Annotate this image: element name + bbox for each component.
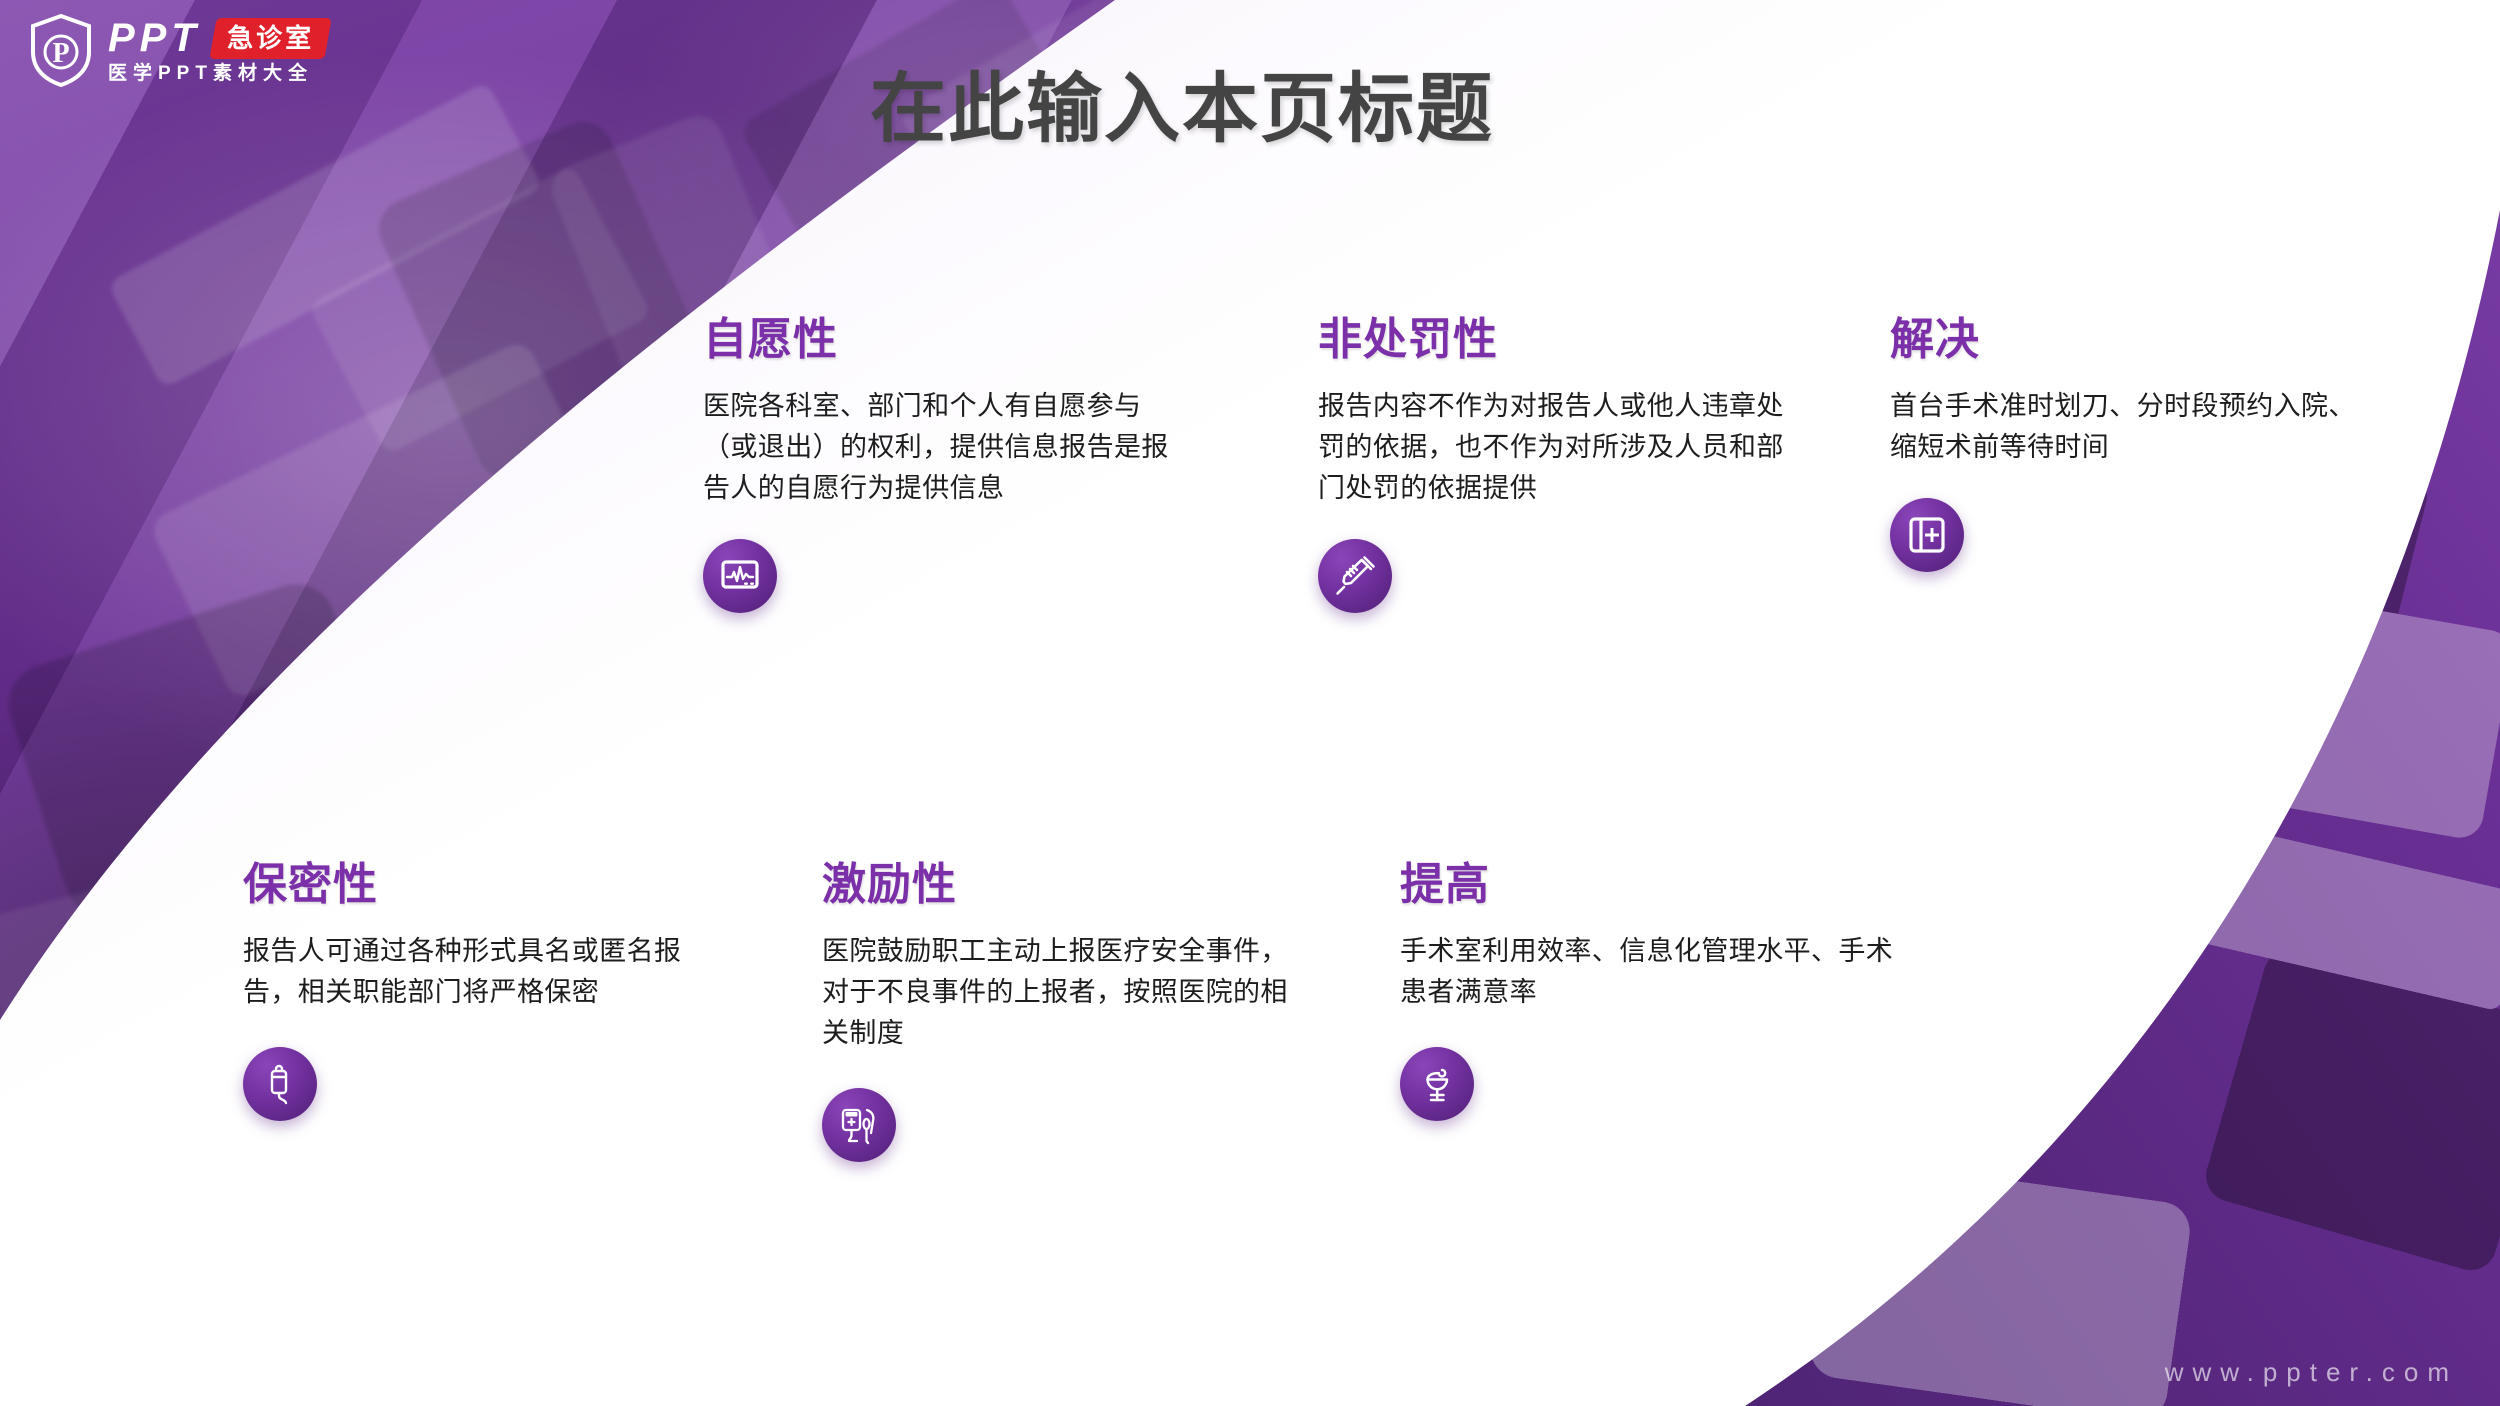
block-description: 报告内容不作为对报告人或他人违章处罚的依据，也不作为对所涉及人员和部门处罚的依据… <box>1318 386 1788 509</box>
feature-block-non-punitive: 非处罚性 报告内容不作为对报告人或他人违章处罚的依据，也不作为对所涉及人员和部门… <box>1318 318 1788 613</box>
shield-letter: P <box>52 38 69 69</box>
syringe-icon[interactable] <box>1318 539 1392 613</box>
feature-block-voluntary: 自愿性 医院各科室、部门和个人有自愿参与（或退出）的权利，提供信息报告是报告人的… <box>703 318 1173 613</box>
feature-block-resolve: 解决 首台手术准时划刀、分时段预约入院、缩短术前等待时间 <box>1890 318 2380 572</box>
block-title: 提高 <box>1400 863 1900 907</box>
logo-primary-row: PPT 急诊室 <box>108 18 328 59</box>
logo-name: PPT <box>108 18 201 58</box>
block-description: 首台手术准时划刀、分时段预约入院、缩短术前等待时间 <box>1890 386 2380 468</box>
block-title: 激励性 <box>822 863 1292 907</box>
block-description: 手术室利用效率、信息化管理水平、手术患者满意率 <box>1400 931 1900 1013</box>
feature-block-confidentiality: 保密性 报告人可通过各种形式具名或匿名报告，相关职能部门将严格保密 <box>243 863 693 1121</box>
feature-block-improve: 提高 手术室利用效率、信息化管理水平、手术患者满意率 <box>1400 863 1900 1121</box>
brand-logo[interactable]: P PPT 急诊室 医学PPT素材大全 <box>28 12 328 88</box>
blood-bag-icon[interactable] <box>822 1088 896 1162</box>
shield-icon: P <box>28 12 94 88</box>
medical-book-icon[interactable] <box>1890 498 1964 572</box>
logo-badge: 急诊室 <box>209 18 331 59</box>
logo-badge-label: 急诊室 <box>227 25 314 51</box>
logo-tagline: 医学PPT素材大全 <box>108 64 328 83</box>
white-curve-overlay <box>0 0 2500 1406</box>
feature-block-incentive: 激励性 医院鼓励职工主动上报医疗安全事件，对于不良事件的上报者，按照医院的相关制… <box>822 863 1292 1162</box>
slide-canvas: P PPT 急诊室 医学PPT素材大全 在此输入本页标题 自愿性 医院各科室、部… <box>0 0 2500 1406</box>
iv-bag-icon[interactable] <box>243 1047 317 1121</box>
bowl-of-hygieia-icon[interactable] <box>1400 1047 1474 1121</box>
block-title: 自愿性 <box>703 318 1173 362</box>
block-description: 医院各科室、部门和个人有自愿参与（或退出）的权利，提供信息报告是报告人的自愿行为… <box>703 386 1173 509</box>
site-watermark: www.ppter.com <box>2165 1357 2458 1388</box>
block-description: 医院鼓励职工主动上报医疗安全事件，对于不良事件的上报者，按照医院的相关制度 <box>822 931 1292 1054</box>
ecg-monitor-icon[interactable] <box>703 539 777 613</box>
block-description: 报告人可通过各种形式具名或匿名报告，相关职能部门将严格保密 <box>243 931 693 1013</box>
block-title: 解决 <box>1890 318 2380 362</box>
logo-text-group: PPT 急诊室 医学PPT素材大全 <box>108 18 328 83</box>
page-title: 在此输入本页标题 <box>870 72 1494 148</box>
block-title: 保密性 <box>243 863 693 907</box>
block-title: 非处罚性 <box>1318 318 1788 362</box>
